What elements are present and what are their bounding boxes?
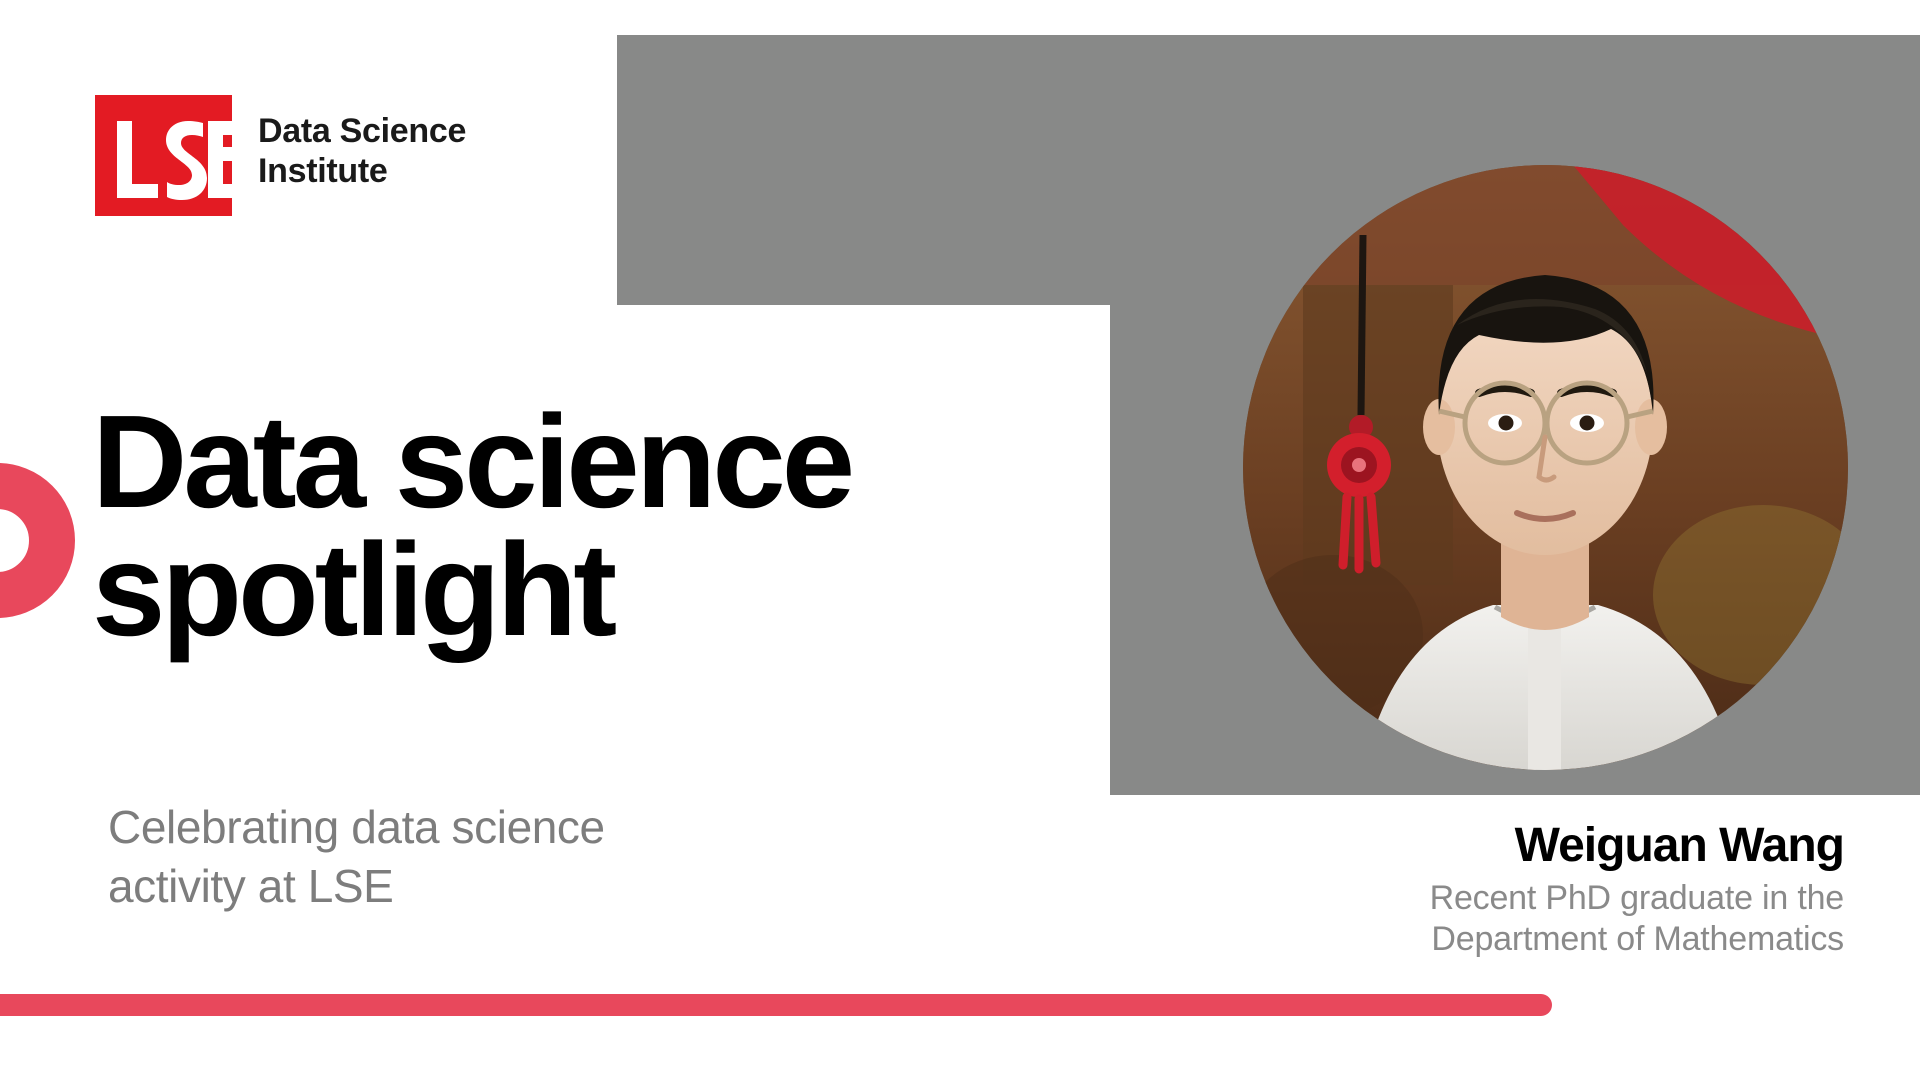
page-title: Data science spotlight	[92, 398, 992, 654]
bottom-accent-rule	[0, 994, 1552, 1016]
red-ring-decoration	[0, 463, 75, 618]
lse-letters-icon	[95, 95, 232, 216]
logo-wordmark: Data Science Institute	[258, 95, 466, 191]
lse-logo-mark-icon	[95, 95, 232, 216]
lse-dsi-logo: Data Science Institute	[95, 95, 466, 216]
spotlight-slide: Data Science Institute Data science spot…	[0, 0, 1920, 1080]
person-name: Weiguan Wang	[1084, 820, 1844, 872]
person-role: Recent PhD graduate in the Department of…	[1084, 878, 1844, 961]
page-subtitle: Celebrating data science activity at LSE	[108, 798, 808, 916]
featured-person: Weiguan Wang Recent PhD graduate in the …	[1084, 820, 1844, 961]
portrait-photo-icon	[1243, 165, 1848, 770]
avatar	[1243, 165, 1848, 770]
